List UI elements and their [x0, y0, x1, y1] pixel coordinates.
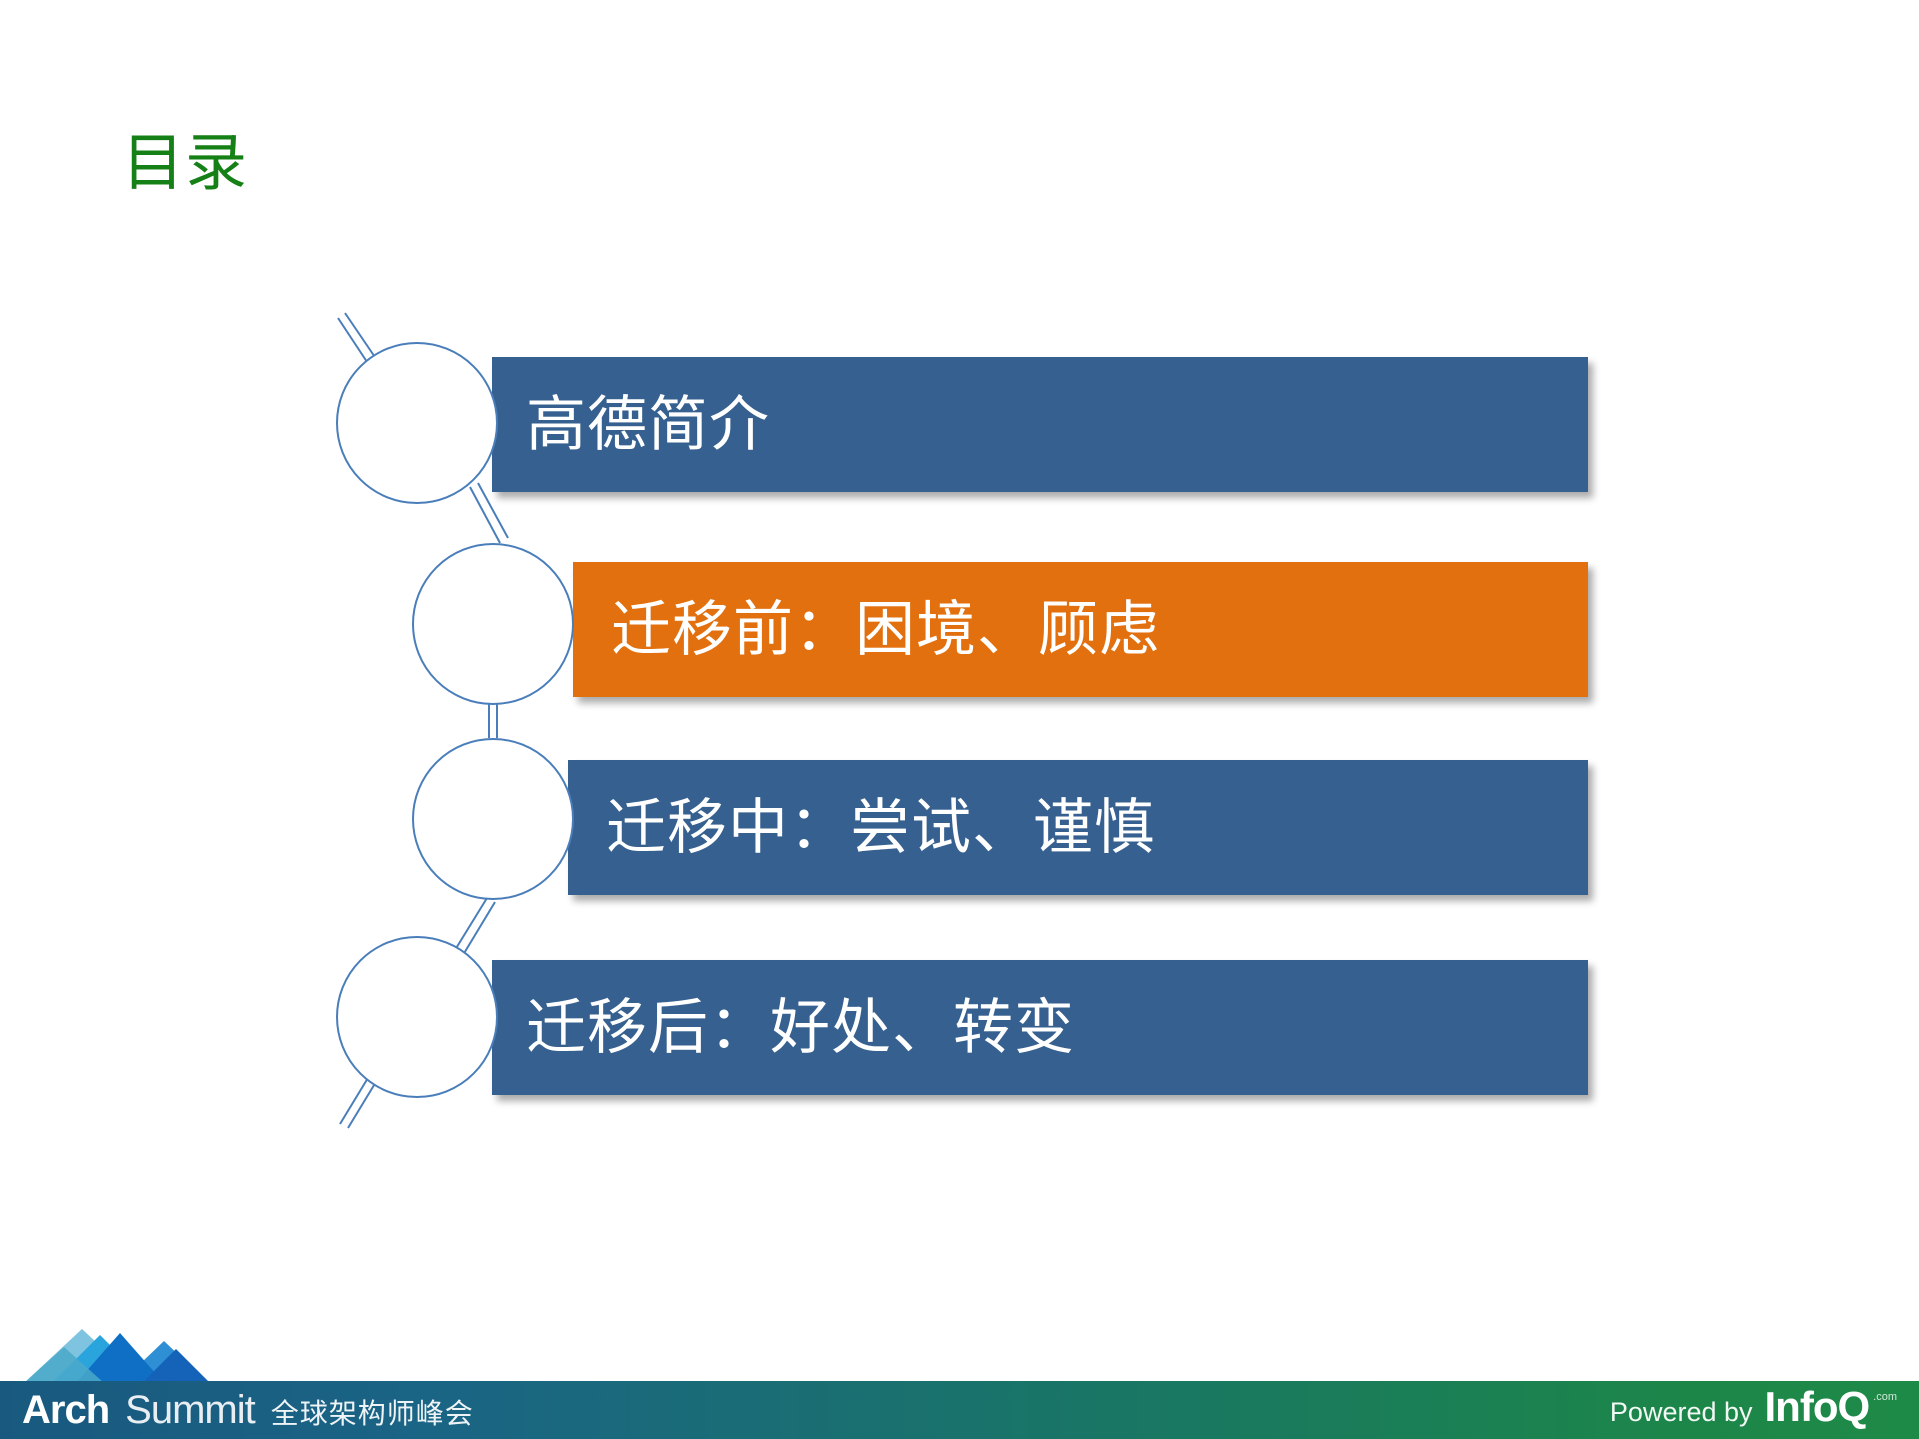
brand-summit-text: Summit: [125, 1388, 255, 1433]
infoq-wordmark: InfoQ: [1765, 1383, 1870, 1431]
footer-bar: ArchSummit 全球架构师峰会 Powered by InfoQ .com: [0, 1381, 1919, 1439]
brand-arch-text: Arch: [22, 1388, 109, 1433]
agenda-bullet-circle-4[interactable]: [336, 936, 498, 1098]
agenda-bar-4[interactable]: 迁移后：好处、转变: [492, 960, 1588, 1095]
agenda-bullet-circle-2[interactable]: [412, 543, 574, 705]
slide-canvas: 目录: [0, 0, 1919, 1439]
connector-lines: [0, 0, 1919, 1439]
agenda-diagram: 高德简介 迁移前：困境、顾虑 迁移中：尝试、谨慎 迁移后：好处、转变: [0, 0, 1919, 1439]
archsummit-mountain-logo-icon: [24, 1319, 254, 1383]
agenda-bar-2[interactable]: 迁移前：困境、顾虑: [573, 562, 1588, 697]
agenda-label-2: 迁移前：困境、顾虑: [611, 600, 1160, 660]
agenda-label-1: 高德简介: [526, 395, 770, 455]
infoq-tld-text: .com: [1873, 1391, 1897, 1403]
powered-by-infoq: Powered by InfoQ .com: [1610, 1383, 1897, 1431]
agenda-label-4: 迁移后：好处、转变: [526, 998, 1075, 1058]
archsummit-wordmark: ArchSummit 全球架构师峰会: [22, 1388, 474, 1433]
agenda-label-3: 迁移中：尝试、谨慎: [606, 798, 1155, 858]
agenda-bar-3[interactable]: 迁移中：尝试、谨慎: [568, 760, 1588, 895]
powered-by-text: Powered by: [1610, 1397, 1753, 1428]
brand-chinese-text: 全球架构师峰会: [271, 1392, 474, 1432]
agenda-bullet-circle-3[interactable]: [412, 738, 574, 900]
agenda-bullet-circle-1[interactable]: [336, 342, 498, 504]
agenda-bar-1[interactable]: 高德简介: [492, 357, 1588, 492]
